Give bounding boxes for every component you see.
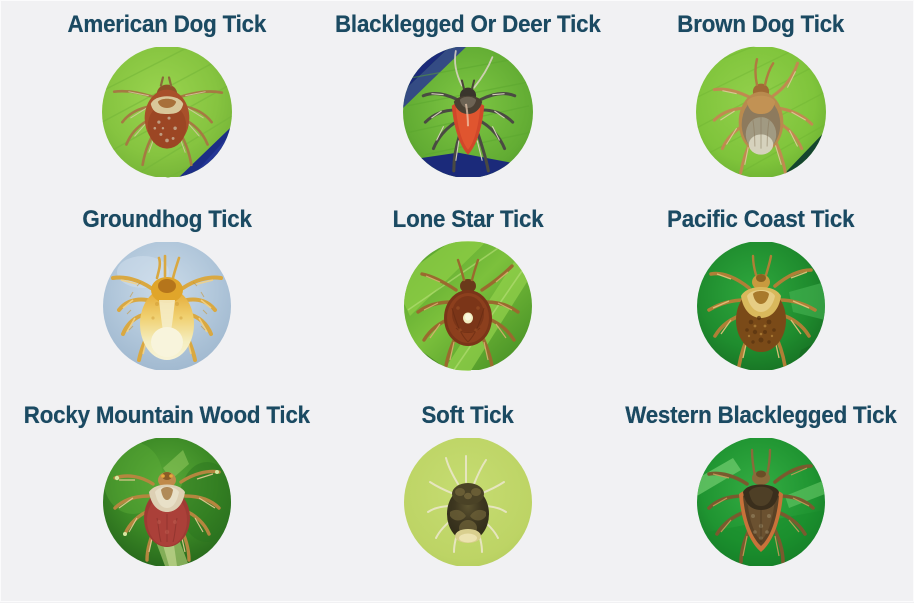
- soft-tick-photo[interactable]: [404, 437, 532, 567]
- tick-label: Lone Star Tick: [392, 208, 543, 232]
- tick-label: Pacific Coast Tick: [667, 208, 854, 232]
- tick-card-groundhog-tick[interactable]: Groundhog Tick: [7, 208, 321, 403]
- blacklegged-or-deer-tick-photo[interactable]: [403, 46, 533, 178]
- tick-label: Blacklegged Or Deer Tick: [335, 13, 601, 37]
- brown-dog-tick-photo[interactable]: [696, 46, 826, 178]
- tick-card-western-blacklegged-tick[interactable]: Western Blacklegged Tick: [615, 404, 909, 599]
- tick-label: Western Blacklegged Tick: [625, 404, 896, 428]
- tick-card-soft-tick[interactable]: Soft Tick: [321, 404, 615, 599]
- tick-label: American Dog Tick: [68, 13, 267, 37]
- tick-label: Groundhog Tick: [82, 208, 251, 232]
- pacific-coast-tick-photo[interactable]: [697, 241, 825, 371]
- rocky-mountain-wood-tick-photo[interactable]: [103, 437, 231, 567]
- groundhog-tick-photo[interactable]: [103, 241, 231, 371]
- tick-label: Brown Dog Tick: [677, 13, 844, 37]
- tick-card-blacklegged-or-deer-tick[interactable]: Blacklegged Or Deer Tick: [321, 13, 615, 208]
- western-blacklegged-tick-photo[interactable]: [697, 437, 825, 567]
- tick-label: Rocky Mountain Wood Tick: [24, 404, 310, 428]
- tick-card-lone-star-tick[interactable]: Lone Star Tick: [321, 208, 615, 403]
- tick-card-pacific-coast-tick[interactable]: Pacific Coast Tick: [615, 208, 909, 403]
- american-dog-tick-photo[interactable]: [102, 46, 232, 178]
- tick-identification-grid: American Dog Tick: [1, 1, 914, 603]
- lone-star-tick-photo[interactable]: [404, 241, 532, 371]
- tick-card-american-dog-tick[interactable]: American Dog Tick: [7, 13, 321, 208]
- tick-card-brown-dog-tick[interactable]: Brown Dog Tick: [615, 13, 909, 208]
- tick-label: Soft Tick: [422, 404, 514, 428]
- tick-card-rocky-mountain-wood-tick[interactable]: Rocky Mountain Wood Tick: [7, 404, 321, 599]
